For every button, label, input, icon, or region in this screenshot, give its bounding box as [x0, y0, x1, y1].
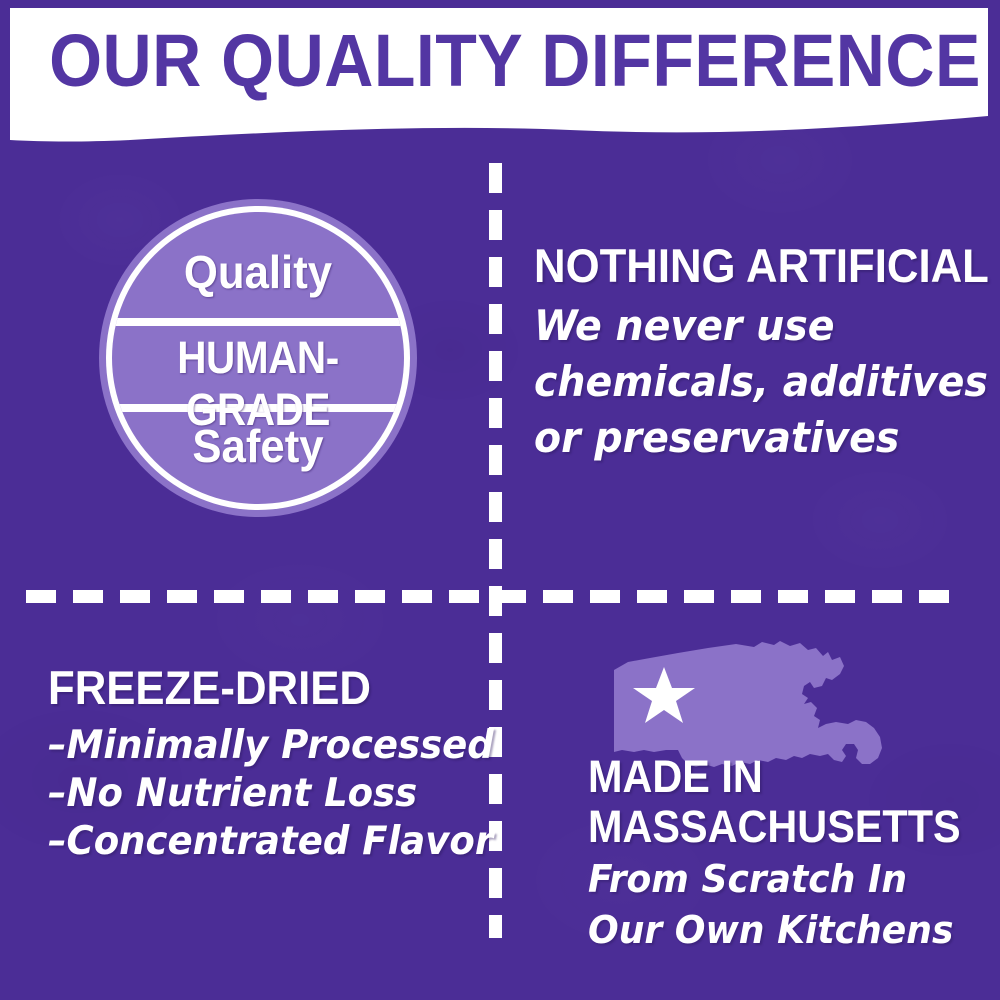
badge-top-label: Quality — [105, 245, 411, 299]
freeze-dried-bullet-2: –No Nutrient Loss — [48, 770, 457, 818]
made-in-headline-line-2: MASSACHUSETTS — [588, 802, 956, 852]
badge-bottom-label: Safety — [105, 419, 411, 473]
nothing-artificial-line-1: We never use — [534, 298, 957, 354]
freeze-dried-block: FREEZE-DRIED –Minimally Processed –No Nu… — [48, 662, 478, 866]
nothing-artificial-block: NOTHING ARTIFICIAL We never use chemical… — [534, 240, 984, 466]
nothing-artificial-line-3: or preservatives — [534, 410, 957, 466]
made-in-headline-line-1: MADE IN — [588, 752, 956, 802]
nothing-artificial-line-2: chemicals, additives — [534, 354, 957, 410]
quality-difference-infographic: OUR QUALITY DIFFERENCE Quality HUMAN-GRA… — [0, 0, 1000, 1000]
freeze-dried-bullet-1: –Minimally Processed — [48, 722, 457, 770]
page-title: OUR QUALITY DIFFERENCE — [49, 18, 949, 103]
made-in-massachusetts-block: MADE IN MASSACHUSETTS From Scratch In Ou… — [588, 752, 988, 954]
freeze-dried-bullet-3: –Concentrated Flavor — [48, 818, 457, 866]
made-in-body-line-1: From Scratch In — [588, 856, 968, 903]
nothing-artificial-headline: NOTHING ARTIFICIAL — [534, 240, 953, 292]
freeze-dried-headline: FREEZE-DRIED — [48, 662, 448, 714]
horizontal-dashed-divider — [26, 590, 964, 603]
human-grade-badge: Quality HUMAN-GRADE Safety — [97, 197, 419, 519]
made-in-body-line-2: Our Own Kitchens — [588, 907, 968, 954]
